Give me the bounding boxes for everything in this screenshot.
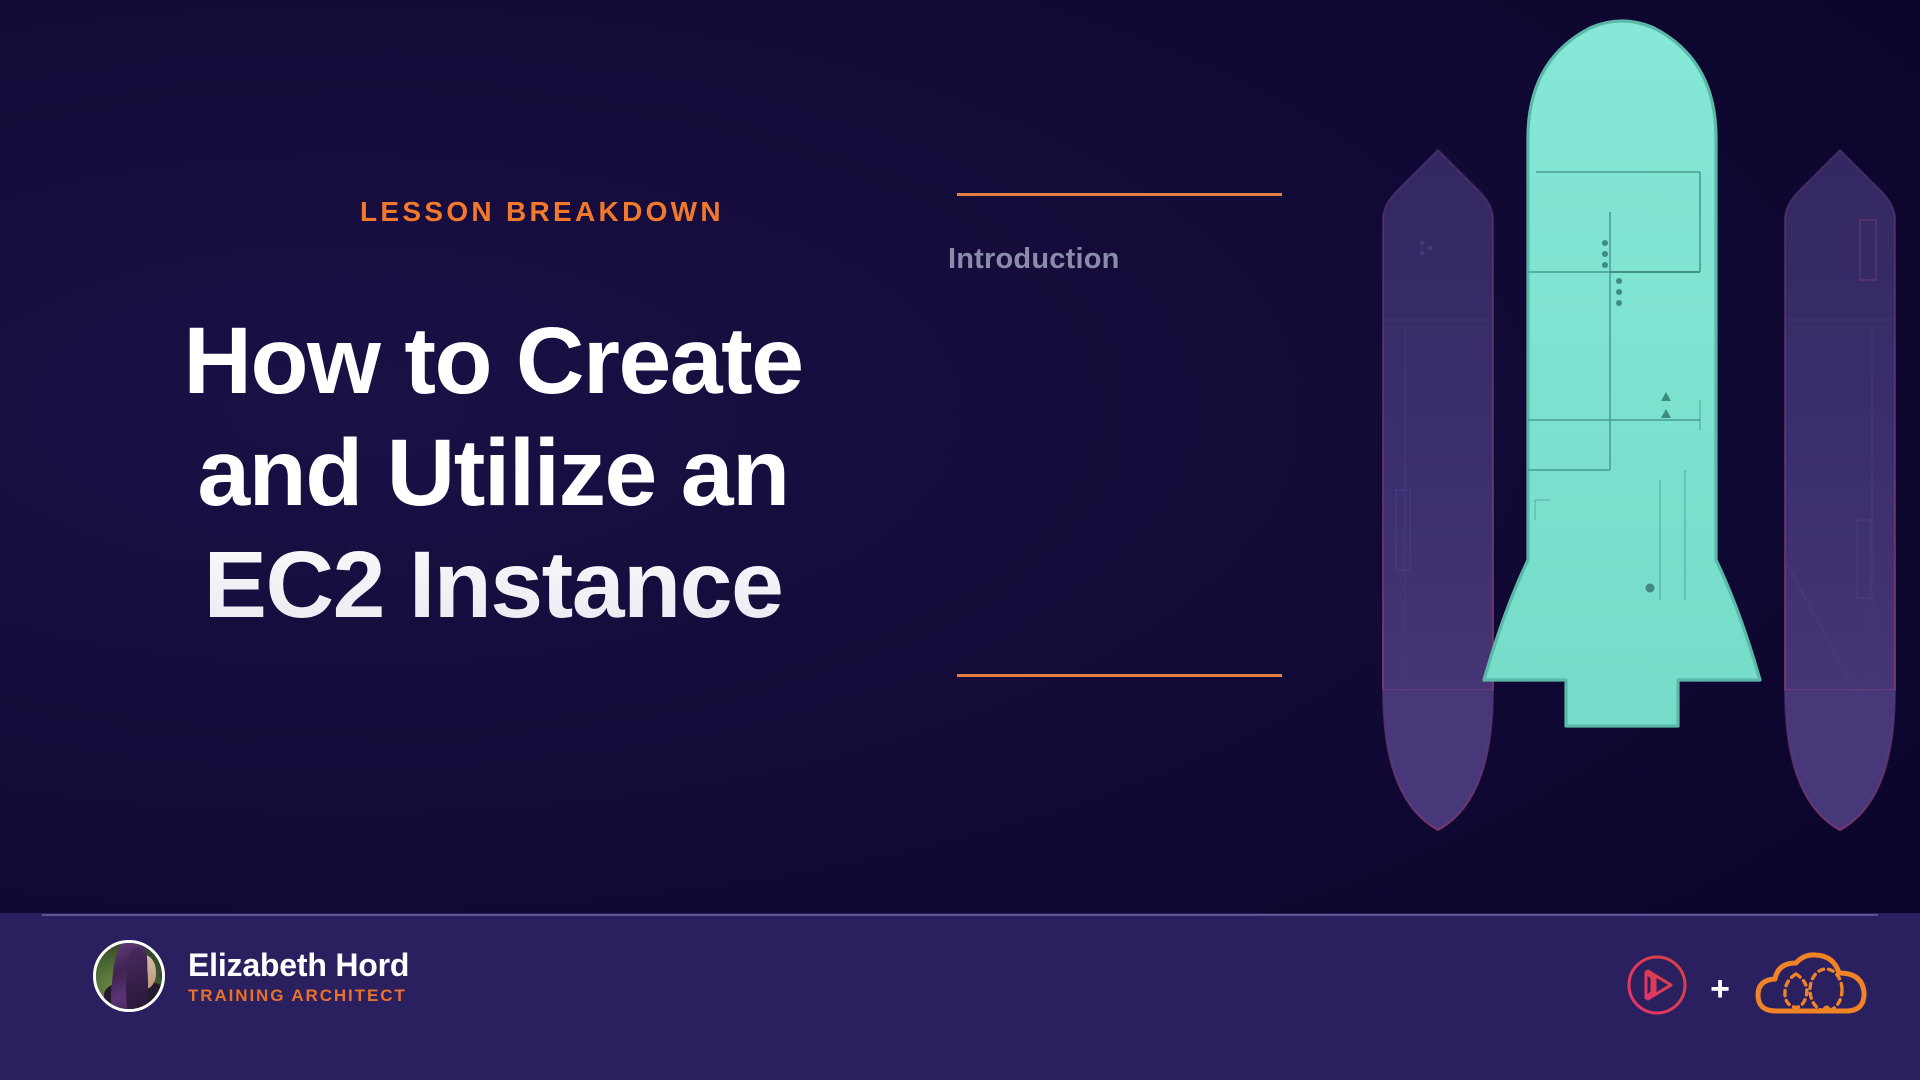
- section-label-introduction: Introduction: [948, 243, 1120, 276]
- brand-lockup: +: [1626, 949, 1872, 1026]
- rocket-illustration: [1360, 0, 1920, 916]
- right-booster: [1785, 150, 1895, 830]
- section-rule-bottom: [957, 674, 1282, 677]
- title-line-3: EC2 Instance: [98, 529, 888, 641]
- plus-icon: +: [1710, 972, 1730, 1006]
- presenter-text: Elizabeth Hord TRAINING ARCHITECT: [188, 947, 409, 1006]
- presenter-block: Elizabeth Hord TRAINING ARCHITECT: [93, 940, 409, 1012]
- footer-bar: Elizabeth Hord TRAINING ARCHITECT: [0, 913, 1920, 1080]
- eyebrow-label: LESSON BREAKDOWN: [360, 196, 724, 228]
- section-rule-top: [957, 193, 1282, 196]
- lesson-breakdown-slide: LESSON BREAKDOWN How to Create and Utili…: [0, 0, 1920, 1080]
- avatar-hair-strand: [126, 947, 148, 1012]
- pluralsight-logo: [1626, 954, 1688, 1021]
- title-line-1: How to Create: [98, 305, 888, 417]
- presenter-role: TRAINING ARCHITECT: [188, 986, 409, 1006]
- presenter-name: Elizabeth Hord: [188, 947, 409, 983]
- avatar: [93, 940, 165, 1012]
- a-cloud-guru-logo: [1752, 949, 1872, 1026]
- title-line-2: and Utilize an: [98, 417, 888, 529]
- page-title: How to Create and Utilize an EC2 Instanc…: [98, 305, 888, 641]
- main-rocket: [1484, 21, 1760, 726]
- footer-divider: [42, 914, 1878, 916]
- left-booster: [1383, 150, 1493, 830]
